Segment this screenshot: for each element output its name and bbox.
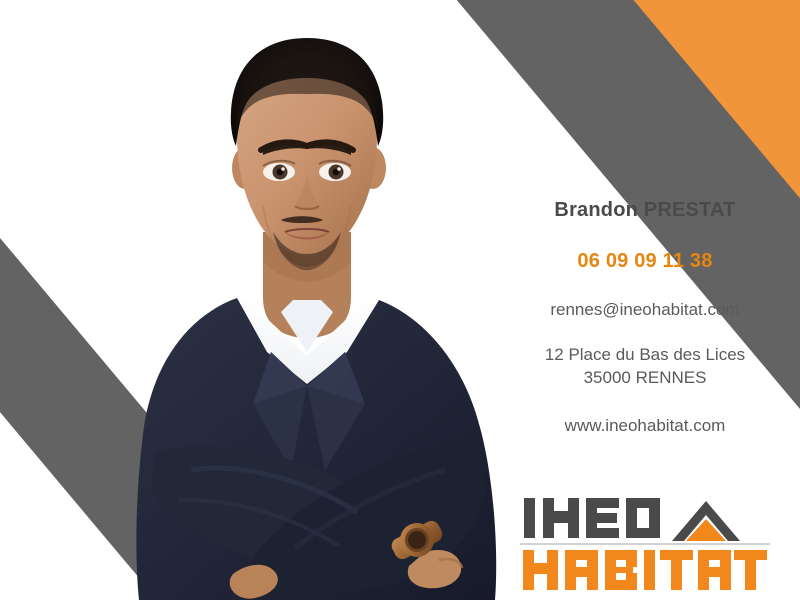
address-line-1: 12 Place du Bas des Lices — [500, 344, 790, 367]
address-line-2: 35000 RENNES — [500, 367, 790, 390]
ineo-habitat-logo[interactable] — [520, 488, 770, 593]
contact-name: Brandon PRESTAT — [500, 198, 790, 223]
portrait-photo — [95, 0, 515, 600]
contact-address: 12 Place du Bas des Lices 35000 RENNES — [500, 344, 790, 390]
logo-divider — [520, 543, 770, 545]
contact-phone[interactable]: 06 09 09 11 38 — [500, 250, 790, 273]
contact-details: Brandon PRESTAT 06 09 09 11 38 rennes@in… — [500, 198, 790, 436]
logo-word-ineo — [524, 498, 660, 538]
roof-chevron-icon — [672, 501, 740, 541]
contact-website[interactable]: www.ineohabitat.com — [500, 416, 790, 436]
logo-word-habitat — [523, 550, 767, 590]
contact-email[interactable]: rennes@ineohabitat.com — [500, 300, 790, 320]
business-card: Brandon PRESTAT 06 09 09 11 38 rennes@in… — [0, 0, 800, 600]
